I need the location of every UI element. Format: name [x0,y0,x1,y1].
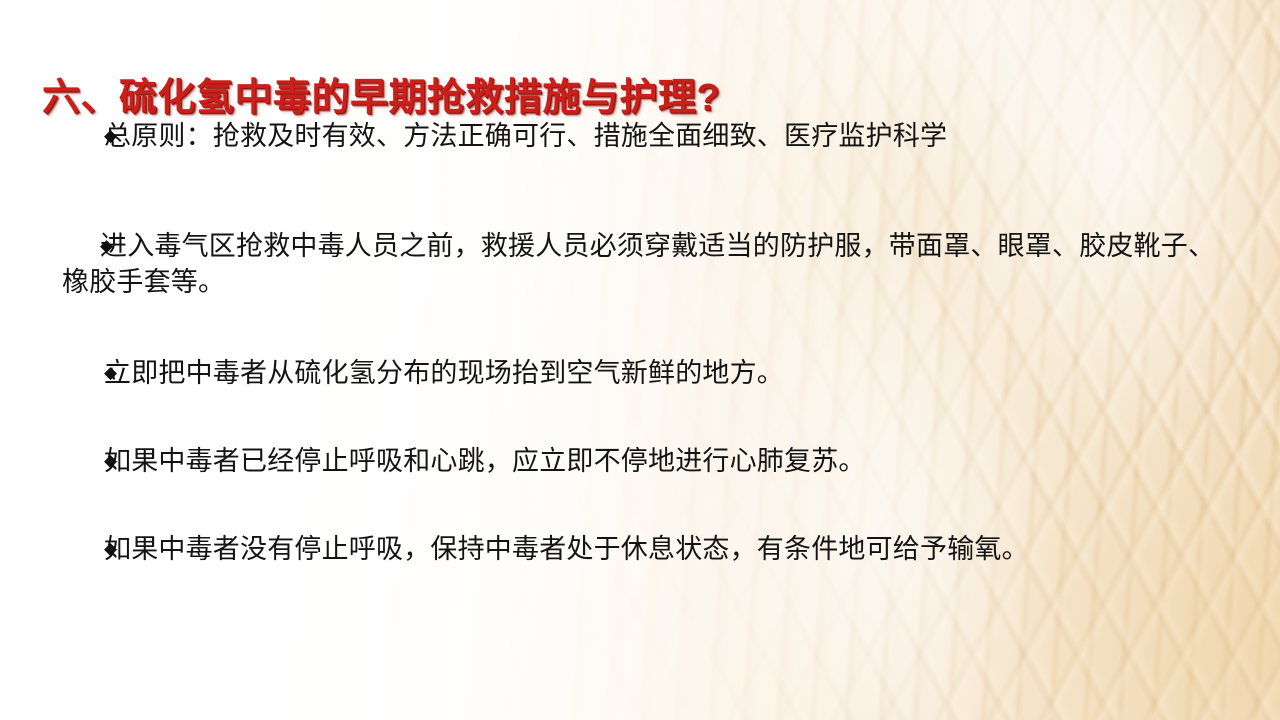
bullet-list: ◆ 总原则：抢救及时有效、方法正确可行、措施全面细致、医疗监护科学 ◆ 进入毒气… [0,118,1280,567]
bullet-item-5-text: 如果中毒者没有停止呼吸，保持中毒者处于休息状态，有条件地可给予输氧。 [0,531,1280,567]
presentation-slide: 六、硫化氢中毒的早期抢救措施与护理? ◆ 总原则：抢救及时有效、方法正确可行、措… [0,0,1280,720]
slide-content: 六、硫化氢中毒的早期抢救措施与护理? ◆ 总原则：抢救及时有效、方法正确可行、措… [0,0,1280,720]
bullet-item-3: ◆ 立即把中毒者从硫化氢分布的现场抬到空气新鲜的地方。 [0,355,1280,391]
bullet-item-1-text: 总原则：抢救及时有效、方法正确可行、措施全面细致、医疗监护科学 [0,118,1280,154]
diamond-bullet-icon: ◆ [104,533,117,565]
bullet-item-4-text: 如果中毒者已经停止呼吸和心跳，应立即不停地进行心肺复苏。 [0,443,1280,479]
bullet-item-5: ◆ 如果中毒者没有停止呼吸，保持中毒者处于休息状态，有条件地可给予输氧。 [0,531,1280,567]
bullet-item-2-text: 进入毒气区抢救中毒人员之前，救援人员必须穿戴适当的防护服，带面罩、眼罩、胶皮靴子… [0,228,1280,300]
bullet-spacer-1 [0,154,1280,228]
bullet-spacer-2 [0,301,1280,355]
bullet-spacer-3 [0,391,1280,443]
bullet-spacer-4 [0,479,1280,531]
bullet-item-3-text: 立即把中毒者从硫化氢分布的现场抬到空气新鲜的地方。 [0,355,1280,391]
bullet-item-4: ◆ 如果中毒者已经停止呼吸和心跳，应立即不停地进行心肺复苏。 [0,443,1280,479]
bullet-item-1: ◆ 总原则：抢救及时有效、方法正确可行、措施全面细致、医疗监护科学 [0,118,1280,154]
diamond-bullet-icon: ◆ [104,120,117,152]
diamond-bullet-icon: ◆ [104,357,117,389]
diamond-bullet-icon: ◆ [100,230,113,262]
slide-title: 六、硫化氢中毒的早期抢救措施与护理? [42,77,720,120]
bullet-item-2: ◆ 进入毒气区抢救中毒人员之前，救援人员必须穿戴适当的防护服，带面罩、眼罩、胶皮… [0,228,1280,300]
diamond-bullet-icon: ◆ [104,445,117,477]
